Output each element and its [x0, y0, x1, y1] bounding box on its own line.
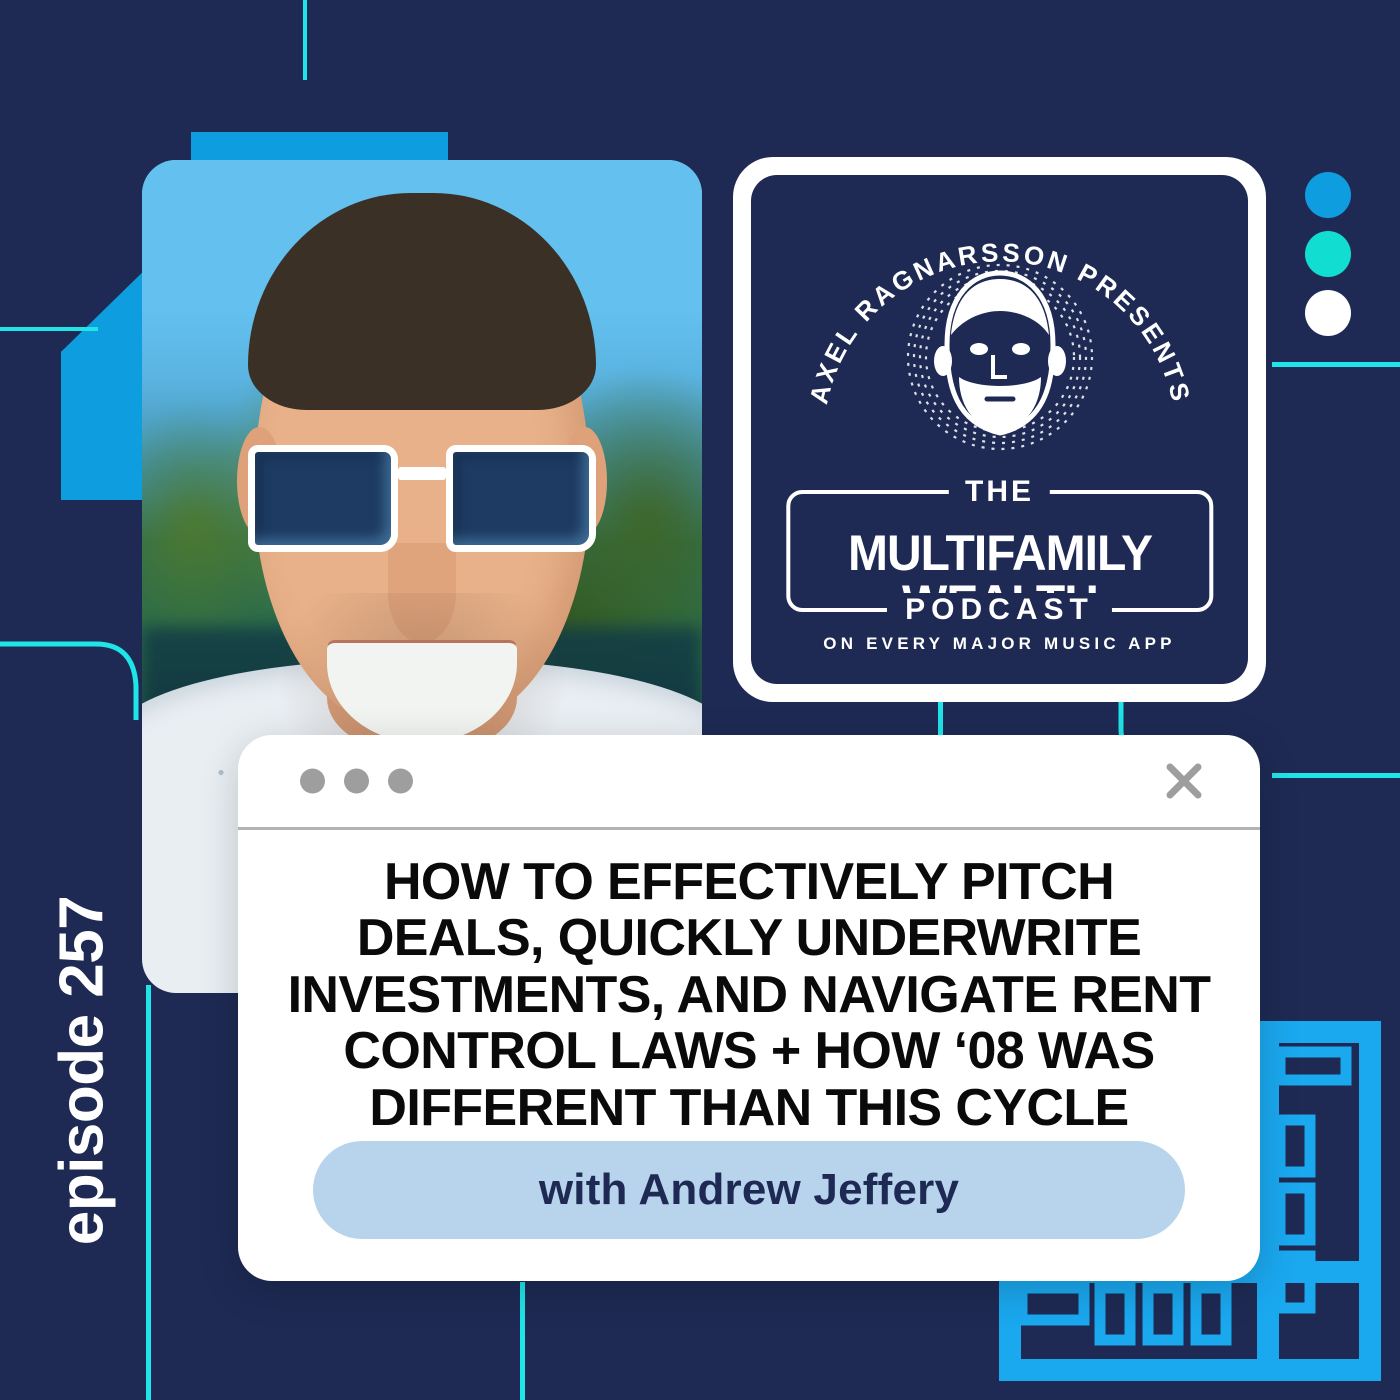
cyan-line-center-bottom-vertical — [520, 1282, 525, 1400]
sunglasses-icon — [248, 435, 595, 560]
cyan-line-left-horizontal — [0, 327, 98, 331]
cyan-line-photo-bottom-vertical — [146, 985, 151, 1400]
host-face-icon — [875, 237, 1125, 487]
guest-pill: with Andrew Jeffery — [313, 1141, 1185, 1239]
window-dot-icon[interactable] — [300, 769, 325, 794]
window-titlebar — [238, 735, 1260, 830]
episode-window-card: HOW TO EFFECTIVELY PITCH DEALS, QUICKLY … — [238, 735, 1260, 1281]
window-dot-icon[interactable] — [344, 769, 369, 794]
sunglass-lens-right — [446, 445, 595, 552]
dot-cyan-icon — [1305, 231, 1351, 277]
logo-wordmark-box: THE MULTIFAMILY WEALTH PODCAST — [786, 490, 1213, 612]
window-dot-icon[interactable] — [388, 769, 413, 794]
sunglass-bridge — [398, 467, 447, 479]
logo-the-label: THE — [949, 477, 1050, 507]
podcast-logo-inner: AXEL RAGNARSSON PRESENTS — [751, 175, 1248, 684]
sunglass-lens-left — [248, 445, 397, 552]
close-icon[interactable] — [1162, 759, 1206, 803]
episode-number-label: episode 257 — [47, 871, 118, 1271]
window-traffic-lights — [300, 769, 413, 794]
cyan-curve-left — [0, 630, 150, 720]
cyan-line-right-horizontal-bottom — [1272, 773, 1400, 778]
cyan-line-top-vertical — [303, 0, 307, 80]
podcast-cover-canvas: AXEL RAGNARSSON PRESENTS — [0, 0, 1400, 1400]
logo-podcast-label: PODCAST — [887, 593, 1112, 627]
cyan-line-right-horizontal-top — [1272, 362, 1400, 367]
guest-hair — [248, 193, 595, 410]
dot-white-icon — [1305, 290, 1351, 336]
podcast-logo-card: AXEL RAGNARSSON PRESENTS — [733, 157, 1266, 702]
logo-tagline: ON EVERY MAJOR MUSIC APP — [751, 634, 1248, 654]
dot-blue-icon — [1305, 172, 1351, 218]
guest-name-label: with Andrew Jeffery — [539, 1165, 959, 1215]
episode-title: HOW TO EFFECTIVELY PITCH DEALS, QUICKLY … — [238, 830, 1260, 1136]
